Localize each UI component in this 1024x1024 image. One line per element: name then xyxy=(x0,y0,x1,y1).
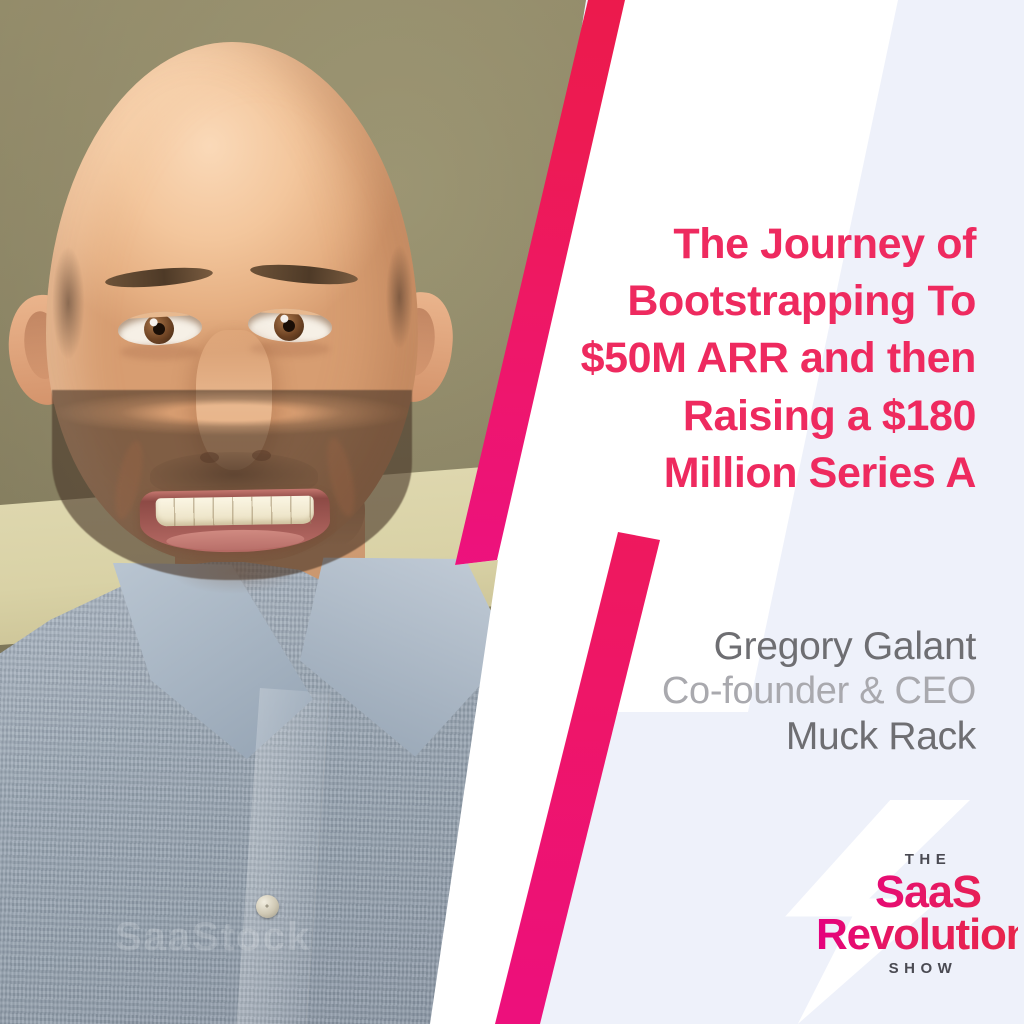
episode-title: The Journey of Bootstrapping To $50M ARR… xyxy=(506,216,976,502)
teeth xyxy=(156,496,314,527)
speaker-role: Co-founder & CEO xyxy=(506,670,976,714)
logo-the: THE xyxy=(838,852,1018,867)
iris-left xyxy=(143,313,175,345)
logo-saas: SaaS xyxy=(838,870,1018,913)
logo-revolution: Revolution xyxy=(816,913,1018,957)
speaker-block: Gregory Galant Co-founder & CEO Muck Rac… xyxy=(506,625,976,760)
photo-watermark: SaaStock xyxy=(115,915,415,967)
iris-right xyxy=(273,310,305,342)
chin xyxy=(170,548,300,594)
show-logo: THE SaaS Revolution SHOW xyxy=(838,852,1018,976)
speaker-company: Muck Rack xyxy=(506,714,976,761)
logo-show: SHOW xyxy=(828,961,1018,976)
under-eye-left xyxy=(120,344,200,360)
speaker-name: Gregory Galant xyxy=(506,625,976,670)
podcast-episode-card: SaaStock xyxy=(0,0,1024,1024)
